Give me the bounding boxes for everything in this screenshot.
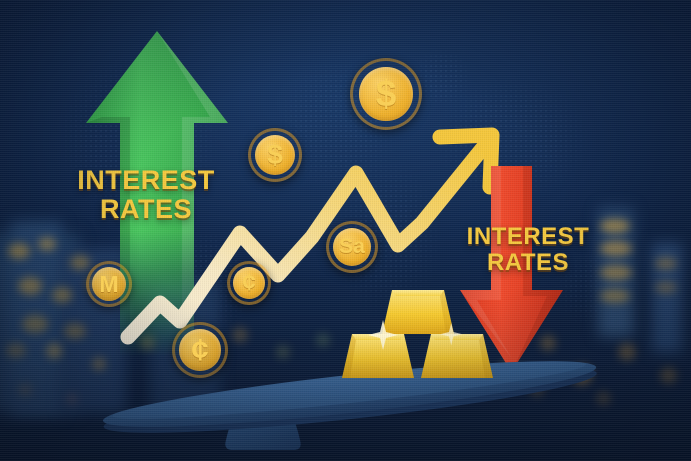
coin-symbol: ¢ [191,332,208,368]
dollar-coin-large: $ [350,58,422,130]
window-light [52,287,72,303]
gold-bar-top [382,290,454,334]
label-left-line1: INTEREST [77,165,215,195]
window-light [8,243,30,259]
interest-rates-label-right: INTEREST RATES [438,224,618,276]
window-light [600,289,630,303]
coin-symbol: M [99,271,118,298]
gold-bar-bottom-right [421,334,493,378]
bokeh-light [18,383,32,397]
window-light [38,237,56,251]
building-left-2 [10,221,62,416]
label-right-line2: RATES [438,250,618,276]
coin-symbol: $ [267,139,283,171]
bokeh-light [66,393,78,405]
dollar-coin-medium: $ [248,128,302,182]
coin-symbol: Sa [339,235,365,259]
gold-bar-stack [330,288,515,380]
interest-rates-label-left: INTEREST RATES [66,166,226,224]
window-light [655,281,677,294]
coin-symbol: $ [376,73,397,115]
window-light [18,277,42,295]
illustration-scene: $ $ Sa M ¢ ¢ [0,0,691,461]
bokeh-light [46,343,62,359]
label-left-line2: RATES [66,195,226,224]
sa-coin: Sa [326,221,378,273]
bokeh-light [618,343,636,361]
window-light [22,315,48,333]
m-coin: M [86,261,132,307]
window-light [655,257,677,270]
label-right-line1: INTEREST [467,223,590,250]
bokeh-light [660,367,677,384]
building-left-1 [0,233,80,413]
window-light [6,343,26,358]
gold-bar-bottom-left [342,334,414,378]
cent-coin-small: ¢ [227,261,271,305]
building-right-2 [652,243,682,353]
coin-symbol: ¢ [242,269,255,297]
